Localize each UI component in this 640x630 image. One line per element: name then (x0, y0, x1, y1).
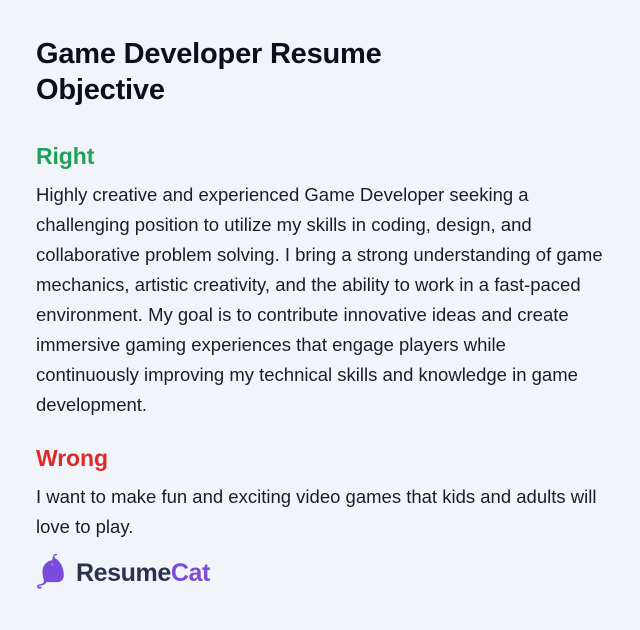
section-heading-right: Right (36, 142, 604, 170)
section-right: Right Highly creative and experienced Ga… (36, 142, 604, 420)
brand-name-cat: Cat (171, 559, 210, 587)
section-heading-wrong: Wrong (36, 444, 604, 472)
cat-icon (36, 554, 66, 592)
brand-logo: ResumeCat (36, 554, 210, 592)
resume-objective-card: Game Developer Resume Objective Right Hi… (0, 0, 640, 630)
section-body-right: Highly creative and experienced Game Dev… (36, 180, 604, 420)
brand-name-resume: Resume (76, 559, 171, 587)
page-title: Game Developer Resume Objective (36, 0, 466, 108)
section-body-wrong: I want to make fun and exciting video ga… (36, 482, 604, 542)
brand-name: ResumeCat (76, 561, 210, 586)
section-wrong: Wrong I want to make fun and exciting vi… (36, 444, 604, 542)
